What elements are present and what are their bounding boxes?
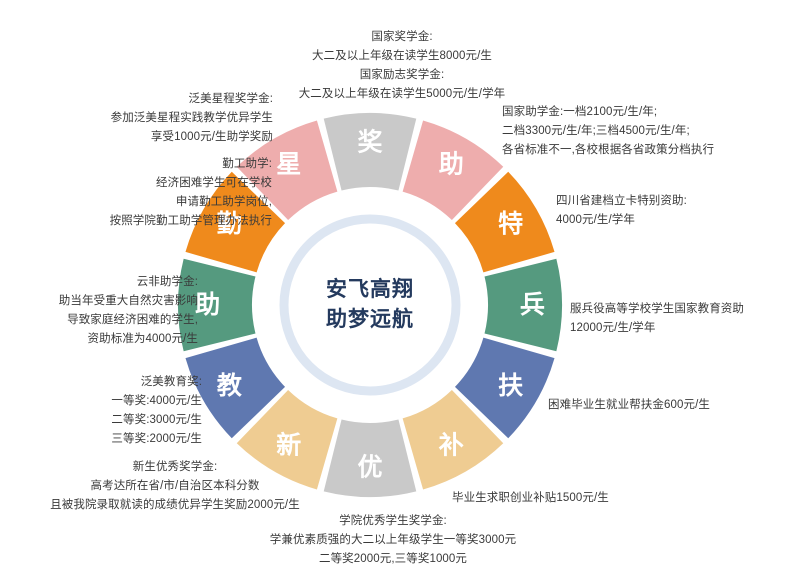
note-star-course-scholarship: 泛美星程奖学金: 参加泛美星程实践教学优异学生 享受1000元/生助学奖励: [58, 90, 273, 147]
wheel-segment-label: 新: [276, 431, 301, 460]
note-sichuan-special-aid: 四川省建档立卡特别资助: 4000元/生/学年: [556, 192, 796, 230]
note-military-service-aid: 服兵役高等学校学生国家教育资助 12000元/生/学年: [570, 300, 798, 338]
wheel-segment-label: 教: [217, 372, 243, 400]
note-job-seeking-subsidy: 毕业生求职创业补贴1500元/生: [452, 489, 702, 508]
note-college-excellent-student-scholarship: 学院优秀学生奖学金: 学兼优素质强的大二以上年级学生一等奖3000元 二等奖20…: [228, 512, 558, 569]
wheel-segment-label: 助: [195, 291, 220, 319]
note-freshman-award: 新生优秀奖学金: 高考达所在省/市/自治区本科分数 且被我院录取就读的成绩优异学…: [30, 458, 320, 515]
wheel-segment-label: 补: [439, 432, 464, 460]
note-national-grant: 国家助学金:一档2100元/生/年; 二档3300元/生/年;三档4500元/生…: [502, 103, 792, 160]
wheel-segment-label: 星: [276, 150, 301, 178]
wheel-segment-label: 扶: [498, 372, 523, 400]
wheel-segment-label: 奖: [357, 128, 382, 157]
note-fanmei-education-award: 泛美教育奖: 一等奖:4000元/生 二等奖:3000元/生 三等奖:2000元…: [52, 373, 202, 449]
wheel-segment-label: 兵: [520, 291, 545, 319]
wheel-segment-label: 优: [357, 453, 382, 481]
note-graduate-employment-help: 困难毕业生就业帮扶金600元/生: [548, 396, 798, 415]
infographic-canvas: 奖助特兵扶补优新教助勤星 安飞高翔 助梦远航 国家奖学金: 大二及以上年级在读学…: [0, 0, 800, 574]
wheel-segment-label: 助: [439, 150, 464, 178]
note-yunfei-grant: 云非助学金: 助当年受重大自然灾害影响 导致家庭经济困难的学生, 资助标准为40…: [8, 273, 198, 349]
note-work-study: 勤工助学: 经济困难学生可在学校 申请勤工助学岗位, 按照学院勤工助学管理办法执…: [22, 155, 272, 231]
note-national-scholarship: 国家奖学金: 大二及以上年级在读学生8000元/生 国家励志奖学金: 大二及以上…: [268, 28, 536, 104]
wheel-segment-label: 特: [498, 210, 523, 238]
